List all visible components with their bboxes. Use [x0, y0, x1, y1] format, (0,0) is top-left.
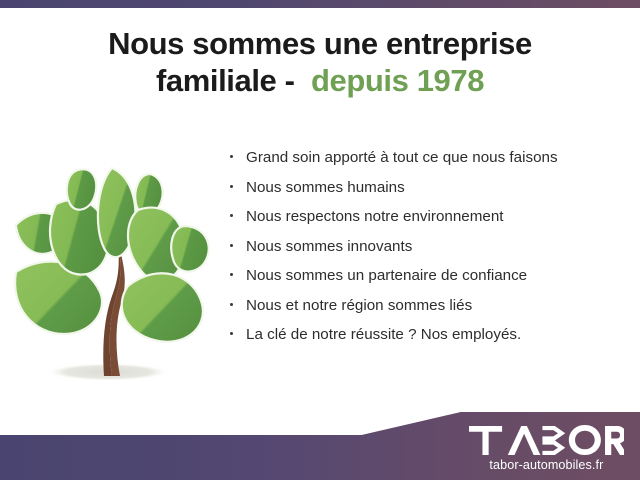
tabor-wordmark-icon — [469, 425, 624, 455]
bullet-dot-icon — [230, 155, 233, 158]
page-title-accent: depuis 1978 — [311, 63, 484, 98]
list-item: Nous sommes un partenaire de confiance — [228, 266, 632, 285]
page-title-line-1: Nous sommes une entreprise — [26, 26, 614, 63]
list-item-label: Nous sommes un partenaire de confiance — [246, 267, 527, 284]
leaf — [122, 273, 203, 342]
bullet-dot-icon — [230, 214, 233, 217]
list-item: La clé de notre réussite ? Nos employés. — [228, 325, 632, 344]
list-item: Nous sommes innovants — [228, 237, 632, 256]
list-item: Nous et notre région sommes liés — [228, 296, 632, 315]
leaf — [171, 226, 209, 272]
list-item: Nous respectons notre environnement — [228, 207, 632, 226]
list-item-label: Nous respectons notre environnement — [246, 208, 504, 225]
bullet-dot-icon — [230, 273, 233, 276]
page-title-line-2-primary: familiale - — [156, 63, 295, 98]
tree-illustration — [8, 150, 213, 395]
value-list: Grand soin apporté à tout ce que nous fa… — [228, 148, 632, 344]
top-accent-strip — [0, 0, 640, 8]
list-item: Grand soin apporté à tout ce que nous fa… — [228, 148, 632, 167]
list-item-label: Nous sommes humains — [246, 179, 405, 196]
bullet-dot-icon — [230, 244, 233, 247]
bullet-dot-icon — [230, 185, 233, 188]
page-title-line-2: familiale - depuis 1978 — [26, 63, 614, 100]
logo-tagline: tabor-automobiles.fr — [469, 459, 624, 472]
page-title: Nous sommes une entreprise familiale - d… — [0, 26, 640, 99]
list-item-label: Nous et notre région sommes liés — [246, 297, 472, 314]
bullet-dot-icon — [230, 332, 233, 335]
bullet-dot-icon — [230, 303, 233, 306]
list-item-label: Nous sommes innovants — [246, 238, 412, 255]
slide-canvas: Nous sommes une entreprise familiale - d… — [0, 0, 640, 480]
leaf — [67, 169, 97, 209]
list-item: Nous sommes humains — [228, 178, 632, 197]
list-item-label: La clé de notre réussite ? Nos employés. — [246, 326, 521, 343]
list-item-label: Grand soin apporté à tout ce que nous fa… — [246, 149, 558, 166]
footer-bar: tabor-automobiles.fr — [0, 400, 640, 480]
brand-logo: tabor-automobiles.fr — [469, 425, 624, 472]
